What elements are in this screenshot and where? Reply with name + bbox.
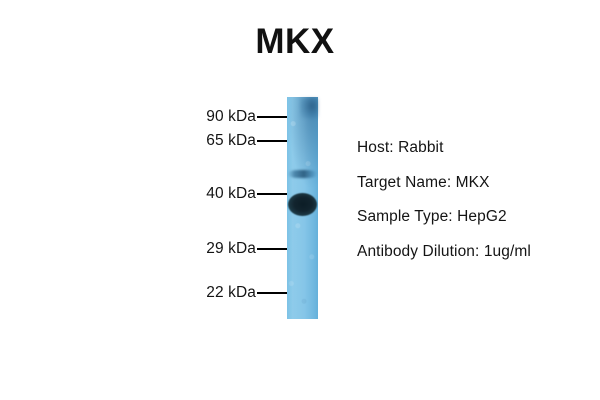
- marker-tick-29kda: [257, 248, 287, 250]
- info-antibody-dilution: Antibody Dilution: 1ug/ml: [357, 243, 531, 261]
- marker-label-22kda: 22 kDa: [206, 285, 256, 301]
- marker-label-65kda: 65 kDa: [206, 133, 256, 149]
- page-title: MKX: [0, 22, 600, 62]
- marker-tick-90kda: [257, 116, 287, 118]
- page-title-text: MKX: [255, 22, 334, 61]
- marker-label-29kda: 29 kDa: [206, 241, 256, 257]
- experiment-info-panel: Host: Rabbit Target Name: MKX Sample Typ…: [357, 139, 531, 261]
- marker-label-90kda: 90 kDa: [206, 109, 256, 125]
- info-target-name: Target Name: MKX: [357, 174, 531, 192]
- blot-lane: [287, 97, 318, 319]
- western-blot-figure: MKX 90 kDa 65 kDa 40 kDa 29 kDa 22 kDa H…: [0, 0, 600, 400]
- marker-label-40kda: 40 kDa: [206, 186, 256, 202]
- marker-tick-40kda: [257, 193, 287, 195]
- info-sample-type: Sample Type: HepG2: [357, 208, 531, 226]
- marker-tick-65kda: [257, 140, 287, 142]
- info-host: Host: Rabbit: [357, 139, 531, 157]
- marker-tick-22kda: [257, 292, 287, 294]
